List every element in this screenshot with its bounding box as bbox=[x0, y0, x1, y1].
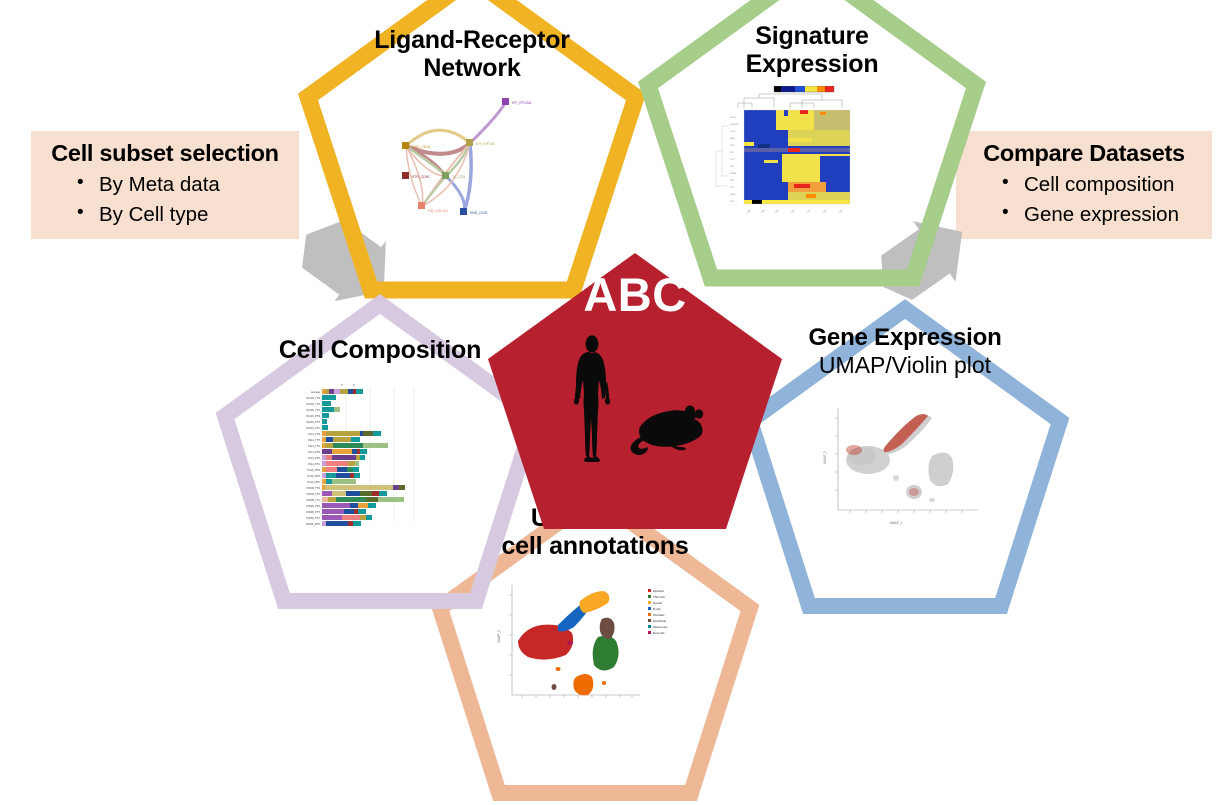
svg-text:Mast cells: Mast cells bbox=[653, 631, 665, 635]
petal-subtitle-gene-expression: UMAP/Violin plot bbox=[760, 352, 1050, 378]
svg-text:Endothelial: Endothelial bbox=[653, 619, 666, 623]
list-item: Cell composition bbox=[1002, 170, 1204, 200]
compare-datasets-title: Compare Datasets bbox=[956, 131, 1212, 170]
svg-text:P114_MTC: P114_MTC bbox=[308, 481, 321, 484]
svg-text:STR_CD90: STR_CD90 bbox=[412, 175, 429, 179]
list-item: By Cell type bbox=[77, 200, 291, 230]
svg-text:S17: S17 bbox=[807, 209, 812, 214]
svg-text:B cells: B cells bbox=[653, 607, 661, 611]
cell-subset-selection-title: Cell subset selection bbox=[31, 131, 299, 170]
svg-text:P1000_TTR: P1000_TTR bbox=[307, 397, 321, 400]
cell-subset-selection-list: By Meta data By Cell type bbox=[31, 170, 299, 239]
svg-text:P0008_TTH: P0008_TTH bbox=[307, 493, 321, 496]
mouse-silhouette-icon bbox=[628, 404, 708, 456]
svg-text:FIB_COL1A1: FIB_COL1A1 bbox=[428, 209, 448, 213]
svg-text:S13: S13 bbox=[791, 209, 796, 214]
svg-text:P0008_PTR: P0008_PTR bbox=[306, 505, 320, 508]
svg-text:IRF1: IRF1 bbox=[730, 152, 734, 154]
svg-text:CCL5: CCL5 bbox=[730, 187, 735, 189]
svg-text:GBP1: GBP1 bbox=[730, 145, 735, 147]
svg-text:P1000_PTR: P1000_PTR bbox=[306, 415, 320, 418]
svg-text:MAC_CD14: MAC_CD14 bbox=[412, 145, 430, 149]
list-item: Gene expression bbox=[1002, 200, 1204, 230]
svg-text:EPI_KRT18: EPI_KRT18 bbox=[476, 142, 494, 146]
heatmap-thumbnail: IFITM3HLA-DRA CXCL9STAT1 GBP1IRF1 CD74B2… bbox=[702, 86, 880, 214]
svg-text:UMAP_2: UMAP_2 bbox=[497, 630, 501, 643]
svg-text:Myeloid: Myeloid bbox=[653, 601, 662, 605]
svg-text:CXCL9: CXCL9 bbox=[730, 131, 736, 133]
network-graph-thumbnail: EPI_EPCAM MAC_CD14 EPI_KRT18 STR_CD90 TC… bbox=[378, 88, 568, 223]
svg-text:P1000_TTH: P1000_TTH bbox=[307, 403, 321, 406]
svg-text:P0008_MTH: P0008_MTH bbox=[306, 523, 320, 526]
svg-text:P114_PTC: P114_PTC bbox=[308, 463, 320, 466]
svg-text:P114_TTC: P114_TTC bbox=[308, 445, 320, 448]
cell-subset-selection-box: Cell subset selection By Meta data By Ce… bbox=[31, 131, 299, 239]
svg-text:P114_TTH: P114_TTH bbox=[308, 439, 320, 442]
svg-text:S25: S25 bbox=[839, 209, 844, 214]
svg-text:IFITM3: IFITM3 bbox=[730, 117, 736, 119]
svg-text:PSMB9: PSMB9 bbox=[730, 173, 736, 175]
human-silhouette-icon bbox=[568, 334, 616, 464]
svg-text:Epithelial: Epithelial bbox=[653, 589, 664, 593]
svg-text:P0008_PTC: P0008_PTC bbox=[306, 517, 320, 520]
svg-text:P114_MTR: P114_MTR bbox=[308, 469, 321, 472]
svg-text:P0008_TTC: P0008_TTC bbox=[307, 499, 321, 502]
svg-text:T/NK cells: T/NK cells bbox=[653, 595, 666, 599]
svg-text:B2M: B2M bbox=[730, 166, 734, 168]
svg-text:CD74: CD74 bbox=[730, 159, 735, 161]
svg-text:P114_PTR: P114_PTR bbox=[308, 451, 320, 454]
svg-text:UMAP_2: UMAP_2 bbox=[823, 451, 827, 464]
svg-text:P0008_PTH: P0008_PTH bbox=[306, 511, 320, 514]
svg-text:average: average bbox=[311, 391, 321, 394]
petal-title-gene-expression: Gene Expression bbox=[760, 324, 1050, 351]
svg-text:P1000_TTC: P1000_TTC bbox=[307, 409, 321, 412]
svg-text:S05: S05 bbox=[761, 209, 766, 214]
svg-text:STAT1: STAT1 bbox=[730, 137, 735, 140]
svg-text:P114_PTH: P114_PTH bbox=[308, 457, 320, 460]
svg-text:P114_MTH: P114_MTH bbox=[308, 475, 321, 478]
umap-feature-plot-thumbnail: UMAP_2 UMAP_1 bbox=[810, 398, 990, 533]
svg-text:TAP1: TAP1 bbox=[730, 179, 734, 182]
svg-text:PRF1: PRF1 bbox=[730, 201, 735, 203]
svg-text:Fibroblast: Fibroblast bbox=[653, 613, 665, 617]
petal-title-signature-expression: Signature Expression bbox=[652, 22, 972, 79]
petal-title-ligand-receptor: Ligand-Receptor Network bbox=[312, 26, 632, 83]
diagram-canvas: Cell subset selection By Meta data By Ce… bbox=[0, 0, 1228, 805]
stacked-bars bbox=[322, 389, 405, 526]
heatmap-colorbar bbox=[774, 86, 834, 92]
svg-text:Plasma cells: Plasma cells bbox=[653, 625, 668, 629]
svg-text:TC_CD3: TC_CD3 bbox=[452, 175, 465, 179]
svg-text:GZMB: GZMB bbox=[730, 194, 736, 196]
svg-text:HLA-DRA: HLA-DRA bbox=[730, 123, 739, 126]
compare-datasets-list: Cell composition Gene expression bbox=[956, 170, 1212, 239]
svg-text:P1000_PTC: P1000_PTC bbox=[306, 427, 320, 430]
list-item: By Meta data bbox=[77, 170, 291, 200]
svg-text:END_CD31: END_CD31 bbox=[470, 211, 488, 215]
compare-datasets-box: Compare Datasets Cell composition Gene e… bbox=[956, 131, 1212, 239]
center-pentagon-label: ABC bbox=[480, 267, 790, 322]
svg-text:P0008_TTR: P0008_TTR bbox=[307, 487, 321, 490]
svg-text:S09: S09 bbox=[775, 209, 780, 214]
stacked-bar-chart-thumbnail: average P1000_TTR P1000_TTH P1000_TTC P1… bbox=[288, 382, 418, 532]
svg-text:EPI_EPCAM: EPI_EPCAM bbox=[512, 101, 532, 105]
svg-text:UMAP_1: UMAP_1 bbox=[890, 521, 903, 525]
svg-text:S21: S21 bbox=[823, 209, 828, 214]
svg-text:P114_TTR: P114_TTR bbox=[308, 433, 320, 436]
svg-text:P1000_PTH: P1000_PTH bbox=[306, 421, 320, 424]
heatmap-cells bbox=[744, 110, 850, 204]
svg-text:S01: S01 bbox=[747, 209, 752, 214]
